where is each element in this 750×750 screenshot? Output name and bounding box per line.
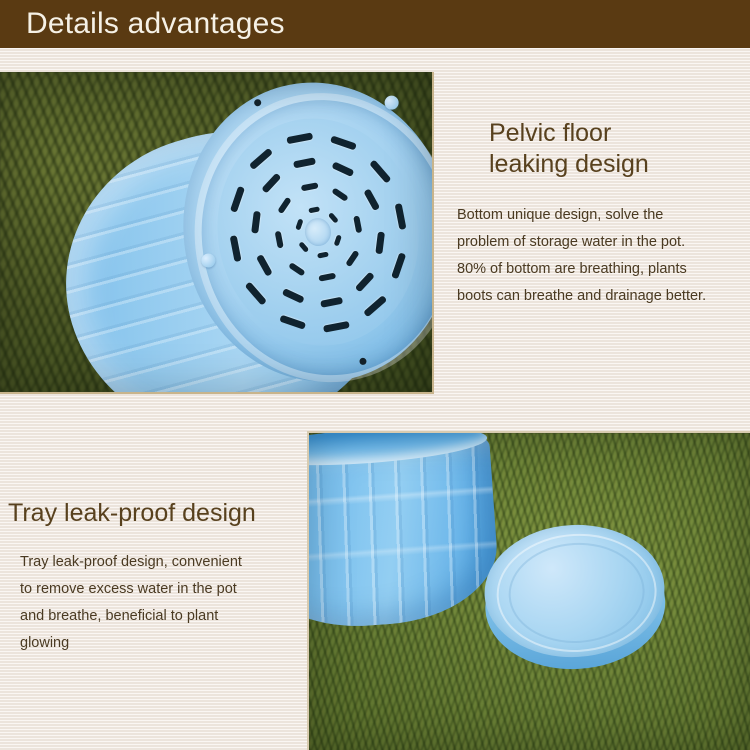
drainage-slot (327, 212, 338, 224)
drainage-slot (375, 231, 385, 254)
drainage-slot (288, 262, 305, 276)
drainage-slot (274, 231, 283, 249)
saucer-tray (481, 520, 669, 679)
body-line: Tray leak-proof design, convenient (20, 549, 296, 576)
drainage-slot (320, 296, 343, 307)
body-line: 80% of bottom are breathing, plants (457, 256, 750, 283)
pelvic-floor-heading: Pelvic floor leaking design (455, 118, 750, 180)
pelvic-floor-text-block: Pelvic floor leaking design Bottom uniqu… (455, 118, 750, 310)
drainage-slot (316, 251, 328, 258)
drainage-slot (300, 182, 318, 191)
drainage-slot (330, 135, 357, 150)
drainage-slot (245, 281, 267, 305)
body-line: glowing (20, 630, 296, 657)
drainage-slot (323, 320, 350, 332)
drainage-slot (331, 161, 354, 177)
drainage-slot (277, 197, 291, 214)
pot-bottom-drainage-photo (0, 72, 434, 394)
drainage-slot (230, 185, 245, 212)
drainage-slot (295, 218, 303, 230)
drainage-slot (261, 172, 281, 193)
page-title: Details advantages (26, 6, 285, 42)
drainage-slot (363, 294, 387, 316)
drainage-slot (391, 252, 406, 279)
drainage-slot (333, 234, 341, 246)
drainage-slot (298, 241, 309, 253)
tray-leak-proof-heading: Tray leak-proof design (8, 498, 304, 529)
pot-nub (383, 94, 399, 110)
drainage-slot (251, 210, 261, 233)
pelvic-floor-body: Bottom unique design, solve the problem … (455, 202, 750, 310)
body-line: boots can breathe and drainage better. (457, 283, 750, 310)
drainage-slot (318, 273, 336, 282)
body-line: to remove excess water in the pot (20, 576, 296, 603)
product-detail-page: Details advantages Pelvic floor leaking (0, 0, 750, 750)
grate-center-hub (303, 216, 334, 248)
drainage-slot (256, 254, 273, 277)
body-line: problem of storage water in the pot. (457, 229, 750, 256)
flower-pot-barrel (307, 431, 502, 633)
drainage-slot (308, 206, 320, 213)
drainage-slot (369, 159, 391, 183)
drainage-slot (249, 147, 273, 169)
body-line: and breathe, beneficial to plant (20, 603, 296, 630)
drainage-slot (282, 288, 305, 304)
drainage-slot (293, 157, 316, 168)
tray-leak-proof-text-block: Tray leak-proof design Tray leak-proof d… (8, 498, 304, 657)
drainage-slot (345, 250, 359, 267)
drainage-slot (353, 216, 362, 234)
drainage-slot (355, 271, 375, 292)
pot-with-saucer-photo (307, 431, 750, 750)
pot-pinhole (254, 99, 262, 107)
drainage-slot (395, 203, 407, 230)
tray-leak-proof-body: Tray leak-proof design, convenient to re… (8, 549, 296, 657)
drainage-slot (279, 314, 306, 329)
drainage-slot (286, 132, 313, 144)
body-line: Bottom unique design, solve the (457, 202, 750, 229)
drainage-slot (331, 188, 348, 202)
drainage-slot (363, 188, 380, 211)
drainage-slot (230, 235, 242, 262)
